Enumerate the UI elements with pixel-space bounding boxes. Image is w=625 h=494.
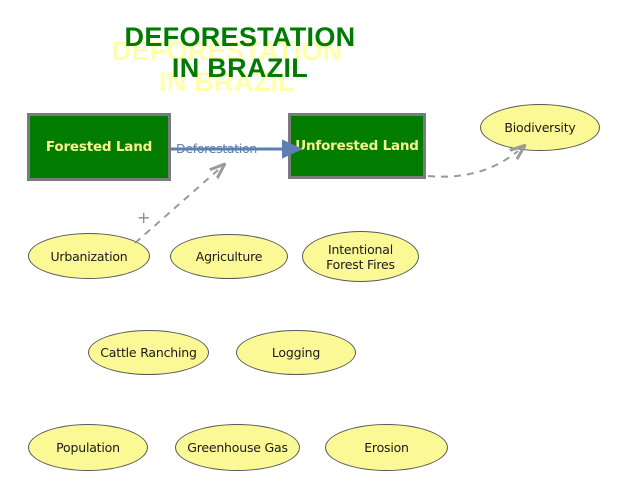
page-title-shadow: DEFORESTATION IN BRAZIL [0, 36, 467, 98]
node-forested-land-label: Forested Land [46, 139, 152, 155]
node-population[interactable]: Population [28, 424, 148, 471]
node-cattle-ranching[interactable]: Cattle Ranching [88, 330, 209, 375]
page-title-text: DEFORESTATION IN BRAZIL [0, 22, 480, 84]
node-cattle-ranching-label: Cattle Ranching [100, 345, 196, 360]
node-population-label: Population [56, 440, 120, 455]
node-biodiversity-label: Biodiversity [504, 120, 575, 135]
node-greenhouse-gas-label: Greenhouse Gas [187, 440, 288, 455]
node-logging[interactable]: Logging [236, 330, 356, 375]
node-urbanization[interactable]: Urbanization [28, 233, 150, 279]
node-logging-label: Logging [272, 345, 320, 360]
node-intentional-forest-fires-label: Intentional Forest Fires [326, 242, 395, 272]
node-forested-land[interactable]: Forested Land [27, 113, 171, 181]
node-agriculture[interactable]: Agriculture [170, 234, 288, 279]
node-erosion[interactable]: Erosion [325, 424, 448, 471]
link-urbanization-label: + [137, 208, 150, 227]
node-intentional-forest-fires[interactable]: Intentional Forest Fires [302, 231, 419, 282]
node-agriculture-label: Agriculture [196, 249, 263, 264]
link-deforestation-label: Deforestation [176, 141, 257, 156]
node-erosion-label: Erosion [364, 440, 409, 455]
diagram-canvas: DEFORESTATION IN BRAZIL DEFORESTATION IN… [0, 0, 625, 494]
node-greenhouse-gas[interactable]: Greenhouse Gas [175, 424, 300, 471]
node-unforested-land-label: Unforested Land [295, 138, 419, 154]
node-urbanization-label: Urbanization [50, 249, 127, 264]
link-biodiversity [428, 151, 518, 177]
node-unforested-land[interactable]: Unforested Land [288, 113, 426, 179]
node-biodiversity[interactable]: Biodiversity [480, 104, 600, 151]
